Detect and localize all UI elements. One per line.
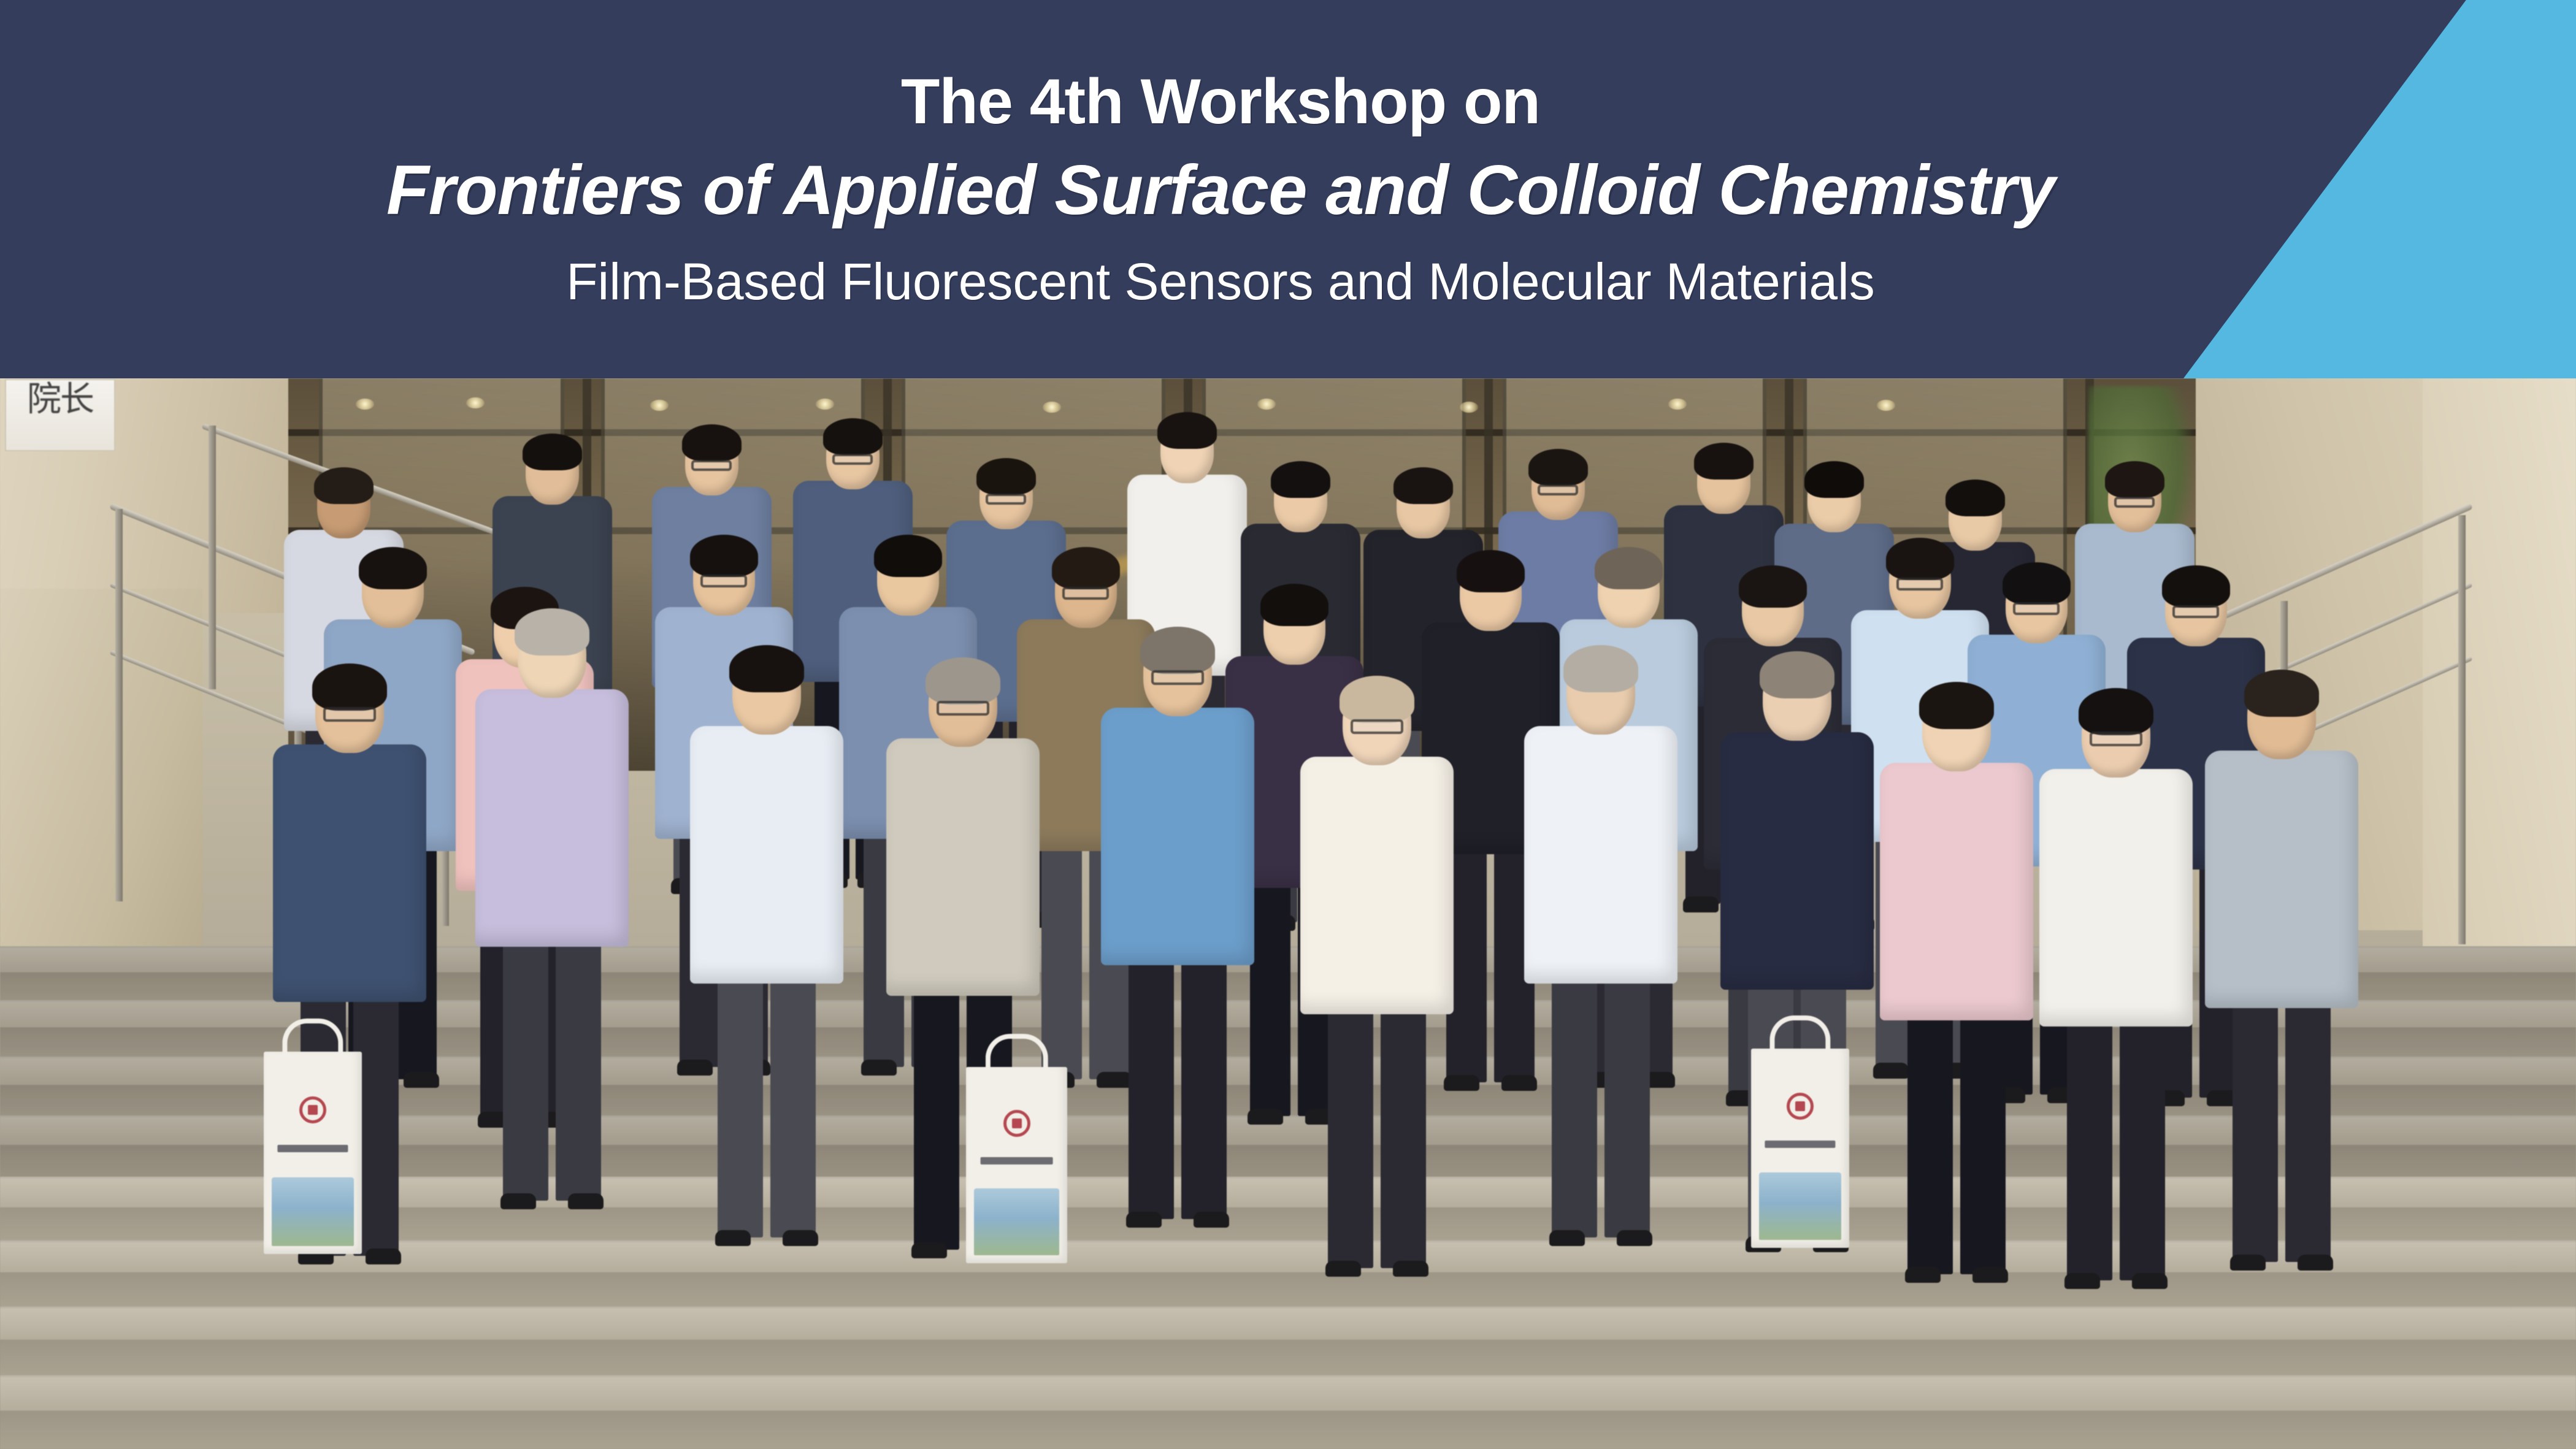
person-hair — [2162, 565, 2230, 608]
person-hair — [1694, 443, 1754, 480]
person-hair — [359, 547, 427, 589]
eyeglasses-icon — [1151, 670, 1203, 684]
person-hair — [2244, 670, 2319, 717]
eyeglasses-icon — [1896, 578, 1944, 591]
person-hair — [1528, 449, 1588, 486]
person-hair — [1140, 627, 1215, 674]
person-torso — [2205, 751, 2358, 1008]
person-hair — [1886, 538, 1954, 580]
eyeglasses-icon — [323, 707, 375, 721]
tote-bag — [264, 1052, 362, 1254]
person-hair — [976, 458, 1036, 495]
person-hair — [1340, 676, 1414, 723]
person-hair — [682, 424, 742, 461]
person-hair — [729, 645, 804, 692]
workshop-poster: 院长 — [0, 0, 2576, 1449]
person-hair — [1945, 480, 2005, 516]
person-hair — [1804, 461, 1864, 498]
tote-wordmark — [980, 1157, 1053, 1164]
banner-text-stack: The 4th Workshop on Frontiers of Applied… — [0, 0, 2441, 378]
person-hair — [690, 535, 758, 577]
eyeglasses-icon — [832, 454, 873, 465]
person-legs — [1328, 1011, 1426, 1268]
person-hair — [926, 657, 1000, 705]
eyeglasses-icon — [2090, 732, 2142, 746]
person-torso — [690, 726, 843, 984]
person-torso — [886, 738, 1040, 996]
tote-handle — [282, 1019, 343, 1055]
person-torso — [2039, 769, 2193, 1027]
person-torso — [1720, 732, 1874, 990]
person-torso — [1101, 708, 1254, 965]
tote-bag — [966, 1067, 1067, 1263]
eyeglasses-icon — [1538, 484, 1578, 495]
banner-line-3: Film-Based Fluorescent Sensors and Molec… — [566, 253, 1875, 310]
eyeglasses-icon — [691, 460, 732, 471]
title-banner: The 4th Workshop on Frontiers of Applied… — [0, 0, 2576, 378]
person-legs — [1552, 980, 1650, 1237]
person-hair — [1563, 645, 1638, 692]
tote-bag — [1751, 1049, 1849, 1248]
tote-building-illustration — [1759, 1172, 1841, 1241]
person-torso — [273, 744, 426, 1002]
person-hair — [1760, 651, 1834, 698]
person-legs — [1446, 851, 1535, 1082]
tote-building-illustration — [974, 1188, 1059, 1255]
eyeglasses-icon — [700, 575, 748, 587]
person-torso — [1300, 757, 1454, 1014]
person-hair — [1739, 565, 1807, 608]
person-hair — [2003, 562, 2071, 605]
person-legs — [718, 980, 816, 1237]
banner-line-1: The 4th Workshop on — [901, 68, 1540, 136]
person-torso — [1524, 726, 1677, 984]
tote-building-illustration — [272, 1177, 354, 1246]
person-hair — [2079, 688, 2153, 735]
eyeglasses-icon — [1062, 587, 1110, 600]
banner-line-2: Frontiers of Applied Surface and Colloid… — [386, 151, 2055, 230]
person-hair — [1393, 467, 1453, 504]
tote-handle — [1769, 1015, 1830, 1052]
tote-handle — [985, 1034, 1048, 1071]
person-hair — [1457, 550, 1525, 592]
person-torso — [475, 689, 629, 947]
person-hair — [1271, 461, 1330, 498]
eyeglasses-icon — [1351, 719, 1403, 733]
person-legs — [1907, 1017, 2006, 1274]
eyeglasses-icon — [986, 494, 1026, 505]
person-legs — [2067, 1023, 2165, 1280]
person-legs — [2233, 1004, 2331, 1262]
person-hair — [2105, 461, 2164, 498]
person-hair — [1052, 547, 1120, 589]
university-seal-icon — [1003, 1110, 1030, 1137]
tote-wordmark — [277, 1145, 348, 1152]
person-hair — [523, 434, 582, 470]
person-legs — [1129, 962, 1227, 1219]
person-hair — [874, 535, 942, 577]
person-hair — [1919, 682, 1994, 729]
person-hair — [823, 418, 883, 455]
person-hair — [1157, 412, 1217, 449]
eyeglasses-icon — [937, 701, 989, 715]
person-hair — [1260, 584, 1328, 626]
person-torso — [1880, 763, 2033, 1020]
person-hair — [1595, 547, 1663, 589]
university-seal-icon — [1787, 1093, 1814, 1120]
person-hair — [312, 663, 387, 711]
tote-wordmark — [1765, 1141, 1835, 1148]
person-hair — [515, 608, 589, 656]
person-legs — [503, 943, 601, 1201]
eyeglasses-icon — [2172, 605, 2220, 618]
eyeglasses-icon — [2114, 497, 2155, 508]
person-hair — [314, 467, 374, 504]
eyeglasses-icon — [2013, 602, 2060, 615]
university-seal-icon — [299, 1096, 326, 1123]
